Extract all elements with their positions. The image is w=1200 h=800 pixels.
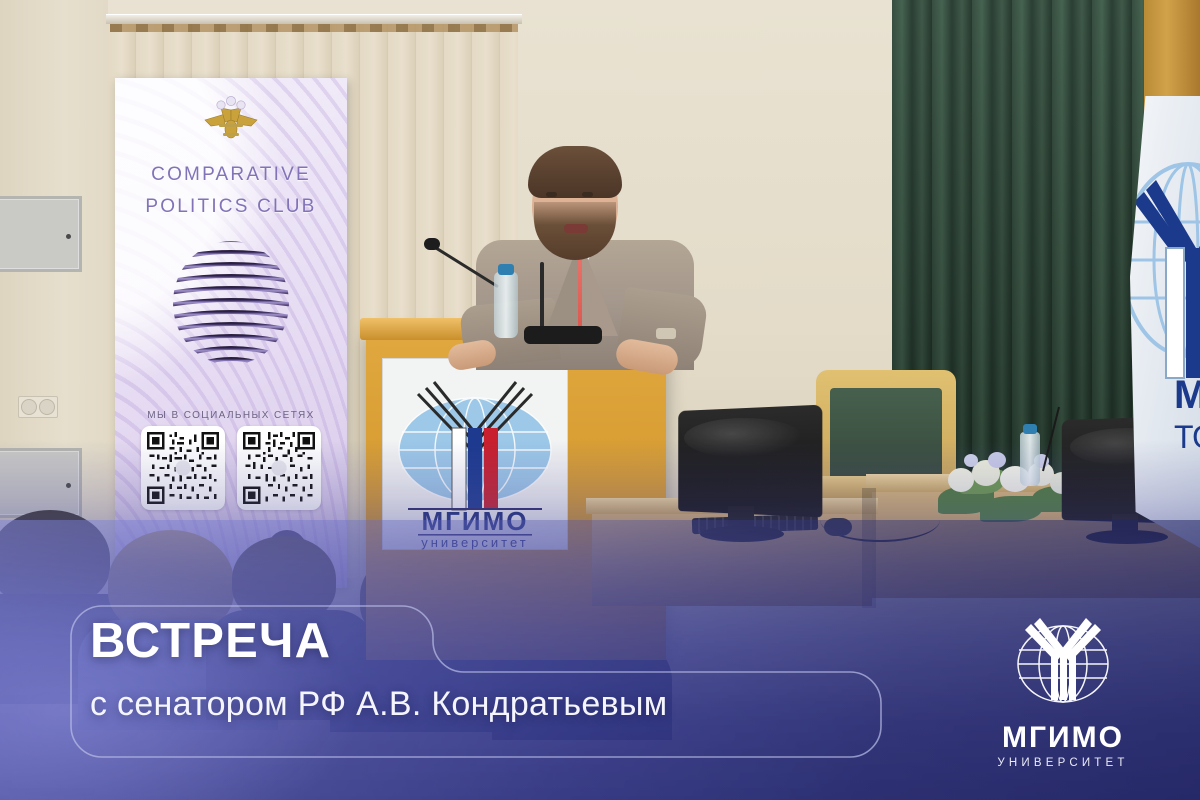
banner-title: COMPARATIVE POLITICS CLUB: [115, 164, 347, 218]
wall-hatch-panel-upper: [0, 196, 82, 272]
speaker-hair: [528, 146, 622, 198]
caption-subtitle: с сенатором РФ А.В. Кондратьевым: [90, 686, 890, 723]
mgimo-emblem-icon: МО ТО: [1130, 132, 1200, 467]
water-bottle-cap: [498, 264, 514, 275]
banner-title-line2: POLITICS CLUB: [115, 196, 347, 218]
gooseneck-microphone-stem: [540, 262, 544, 332]
speaker-wristwatch: [656, 328, 676, 339]
water-bottle-desk-cap: [1023, 424, 1037, 434]
speaker-mouth: [564, 224, 588, 233]
blinds-rail: [106, 14, 522, 24]
striped-globe-icon: [167, 233, 295, 378]
mgimo-subtitle: УНИВЕРСИТЕТ: [997, 757, 1128, 769]
power-socket: [18, 396, 58, 418]
caption-title: ВСТРЕЧА: [90, 617, 890, 666]
announcement-image: COMPARATIVE POLITICS CLUB: [0, 0, 1200, 800]
mgimo-corner-logo: МГИМО УНИВЕРСИТЕТ: [988, 608, 1138, 768]
speaker-eye-left: [546, 192, 557, 197]
microphone-head: [424, 238, 440, 250]
gooseneck-microphone-base: [524, 326, 602, 344]
social-networks-label: МЫ В СОЦИАЛЬНЫХ СЕТЯХ: [115, 410, 347, 421]
mgimo-wordmark: МГИМО: [1002, 721, 1124, 755]
mgimo-globe-icon: [1007, 608, 1119, 717]
blinds-top-band: [110, 23, 518, 32]
caption-block: ВСТРЕЧА с сенатором РФ А.В. Кондратьевым: [90, 617, 890, 723]
water-bottle: [494, 272, 518, 338]
speaker-eye-right: [582, 192, 593, 197]
russian-double-headed-eagle-crest-icon: [199, 96, 263, 147]
svg-text:МО: МО: [1174, 373, 1200, 417]
banner-title-line1: COMPARATIVE: [151, 164, 311, 185]
